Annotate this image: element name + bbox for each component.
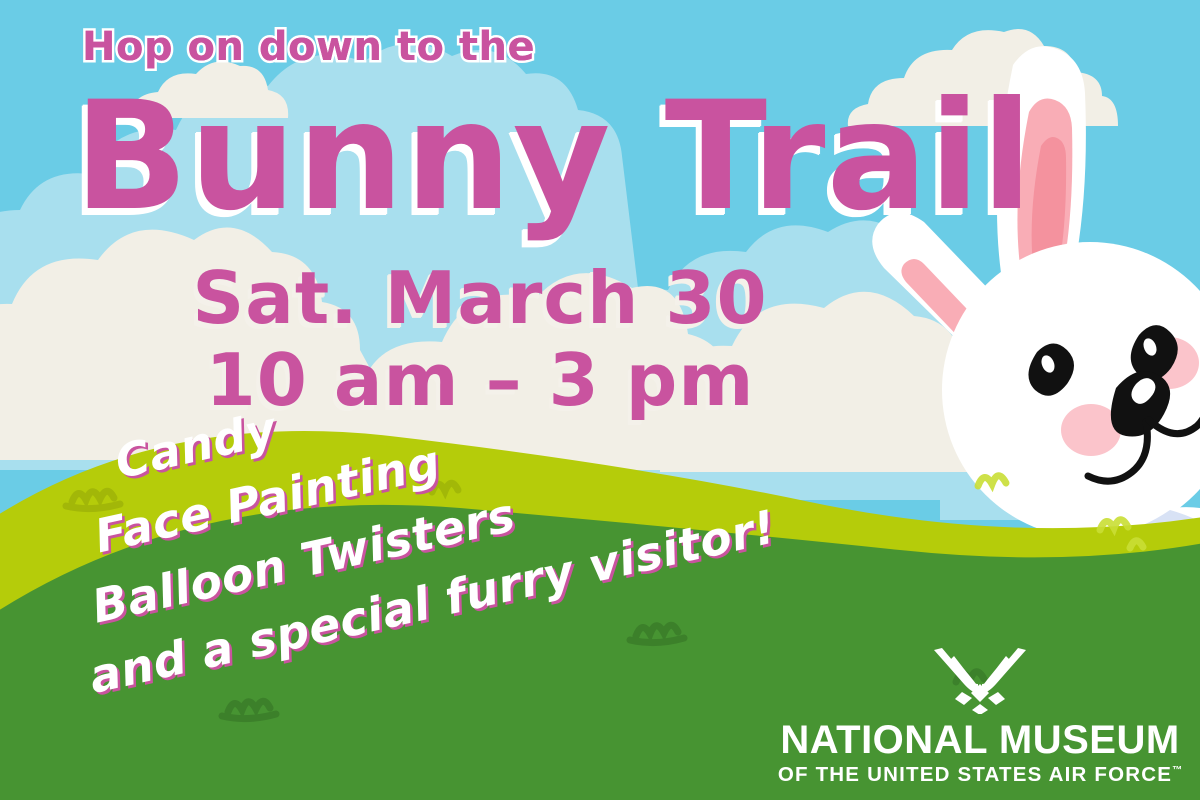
trademark-symbol: ™ <box>1172 765 1182 776</box>
logo-line-2: OF THE UNITED STATES AIR FORCE™ <box>770 765 1190 786</box>
tagline-text: Hop on down to the <box>82 24 535 70</box>
logo-line-2-text: OF THE UNITED STATES AIR FORCE <box>778 763 1172 786</box>
air-force-wings-icon <box>932 648 1028 714</box>
event-date: Sat. March 30 <box>0 262 960 334</box>
logo-line-1: NATIONAL MUSEUM <box>770 720 1190 760</box>
museum-logo: NATIONAL MUSEUM OF THE UNITED STATES AIR… <box>770 648 1190 786</box>
page-title: Bunny Trail <box>74 82 1034 232</box>
poster-canvas: Hop on down to the Hop on down to the Bu… <box>0 0 1200 800</box>
